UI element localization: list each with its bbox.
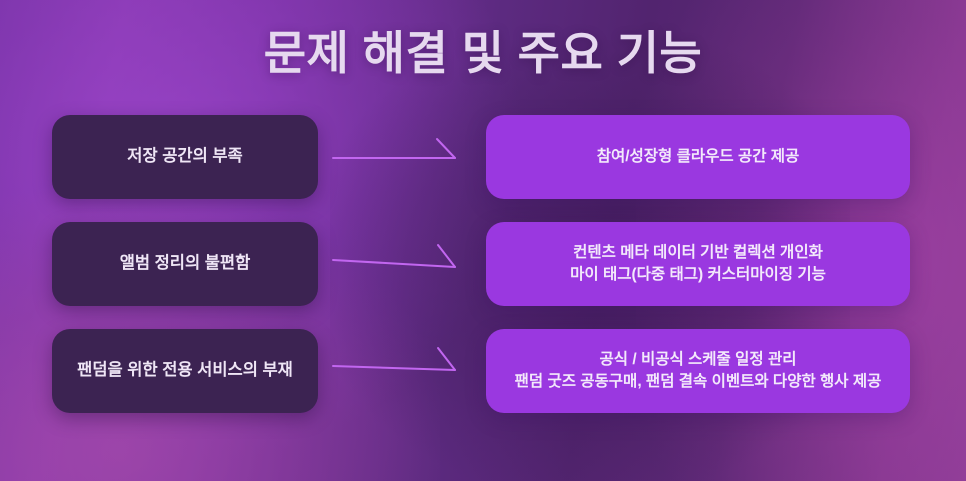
solution-card-3-line-1: 공식 / 비공식 스케줄 일정 관리 xyxy=(515,349,882,371)
solution-card-2-line-1: 컨텐츠 메타 데이터 기반 컬렉션 개인화 xyxy=(570,242,826,264)
problem-card-2-label: 앨범 정리의 불편함 xyxy=(120,252,251,276)
problem-card-1-label: 저장 공간의 부족 xyxy=(127,145,242,169)
solution-card-2-line-2: 마이 태그(다중 태그) 커스터마이징 기능 xyxy=(570,264,826,286)
arrow-right-icon xyxy=(330,234,470,294)
problem-card-1: 저장 공간의 부족 xyxy=(52,115,318,199)
problem-card-2: 앨범 정리의 불편함 xyxy=(52,222,318,306)
solution-card-1-lines: 참여/성장형 클라우드 공간 제공 xyxy=(597,146,800,168)
page-title: 문제 해결 및 주요 기능 xyxy=(0,17,966,83)
problem-card-3: 팬덤을 위한 전용 서비스의 부재 xyxy=(52,329,318,413)
slide-canvas: 문제 해결 및 주요 기능 저장 공간의 부족 참여/성장형 클라우드 공간 제… xyxy=(0,0,966,481)
connector-arrow-2 xyxy=(330,234,470,294)
arrow-right-icon xyxy=(330,132,470,192)
solution-card-3-lines: 공식 / 비공식 스케줄 일정 관리 팬덤 굿즈 공동구매, 팬덤 결속 이벤트… xyxy=(515,349,882,394)
arrow-right-icon xyxy=(330,341,470,401)
problem-card-3-label: 팬덤을 위한 전용 서비스의 부재 xyxy=(77,359,293,383)
connector-arrow-3 xyxy=(330,341,470,401)
solution-card-1-line-1: 참여/성장형 클라우드 공간 제공 xyxy=(597,146,800,168)
solution-card-1: 참여/성장형 클라우드 공간 제공 xyxy=(486,115,910,199)
connector-arrow-1 xyxy=(330,132,470,192)
solution-card-2-lines: 컨텐츠 메타 데이터 기반 컬렉션 개인화 마이 태그(다중 태그) 커스터마이… xyxy=(570,242,826,287)
solution-card-3: 공식 / 비공식 스케줄 일정 관리 팬덤 굿즈 공동구매, 팬덤 결속 이벤트… xyxy=(486,329,910,413)
solution-card-3-line-2: 팬덤 굿즈 공동구매, 팬덤 결속 이벤트와 다양한 행사 제공 xyxy=(515,371,882,393)
solution-card-2: 컨텐츠 메타 데이터 기반 컬렉션 개인화 마이 태그(다중 태그) 커스터마이… xyxy=(486,222,910,306)
